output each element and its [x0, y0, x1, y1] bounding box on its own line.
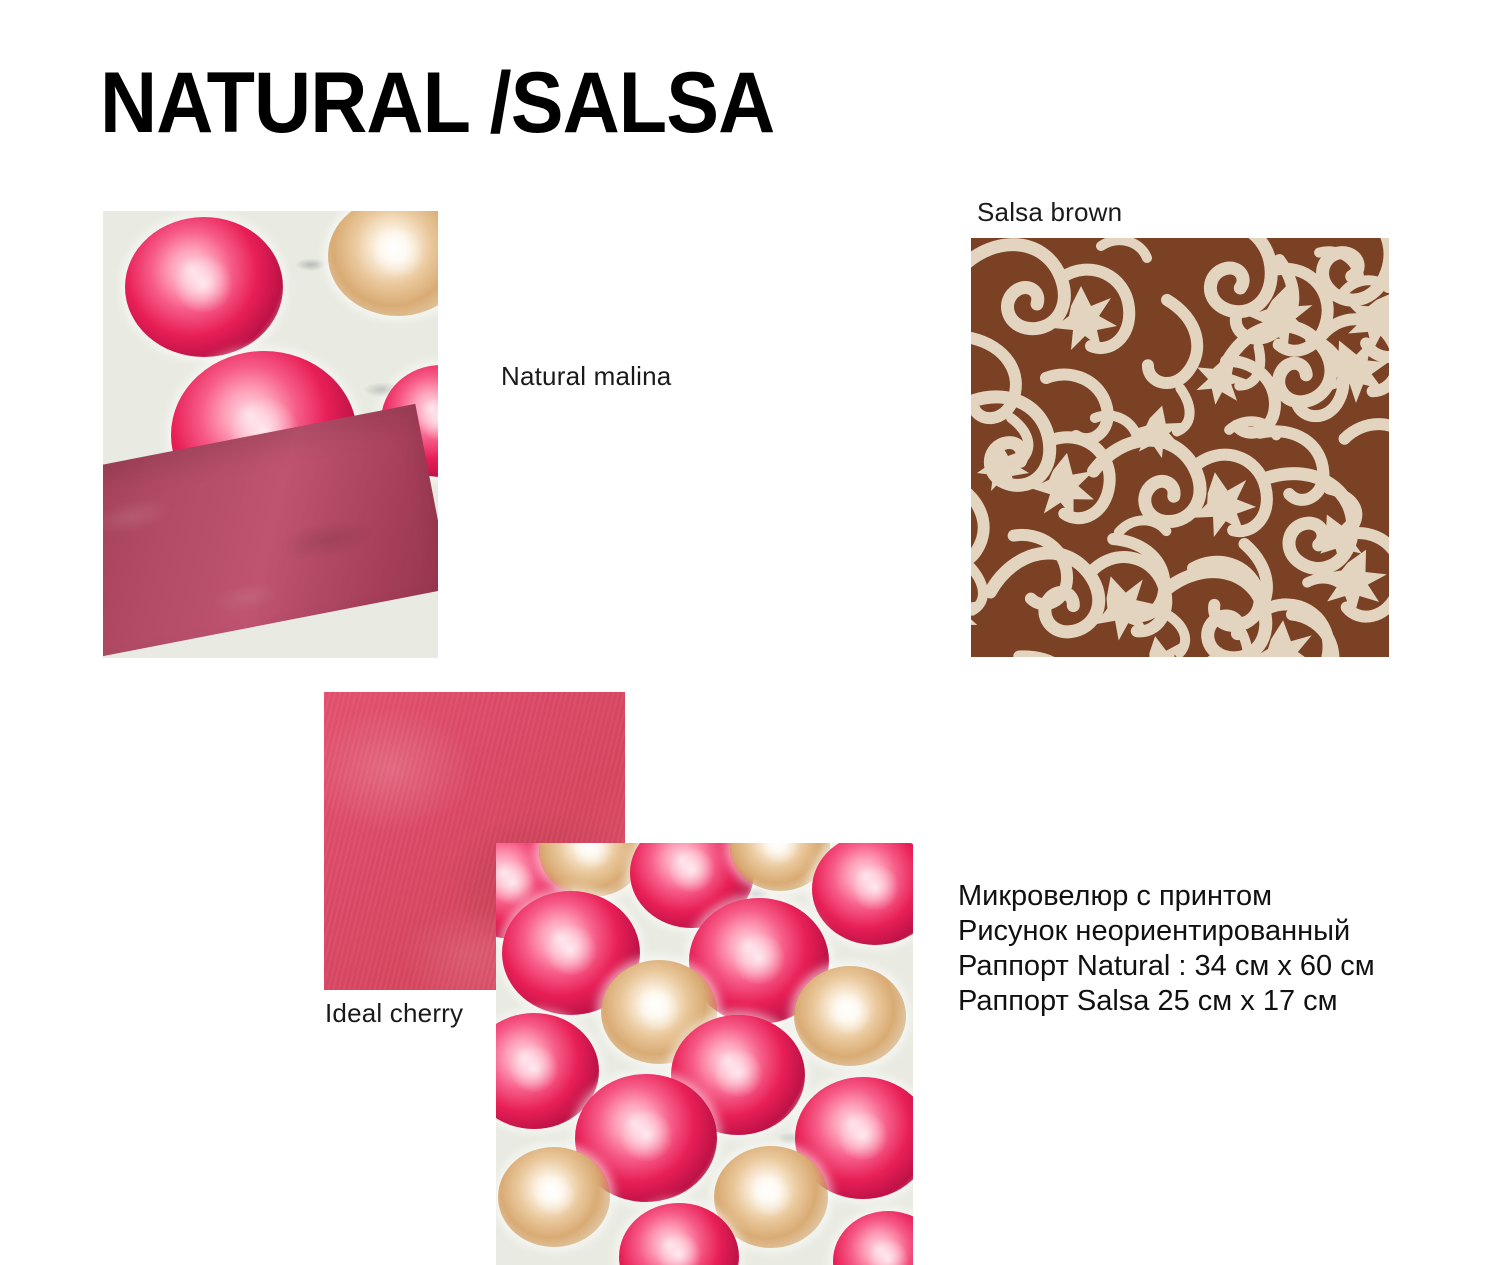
tan-bloom — [328, 211, 438, 316]
rose-bloom — [833, 1211, 913, 1265]
rose-bloom — [812, 843, 913, 945]
velour-fold — [103, 404, 438, 658]
swatch-label-salsa-brown: Salsa brown — [977, 197, 1122, 228]
spec-line-material: Микровелюр с принтом — [958, 879, 1375, 914]
damask-scroll-pattern — [971, 238, 1389, 657]
spec-line-repeat-salsa: Раппорт Salsa 25 см х 17 см — [958, 984, 1375, 1019]
fabric-swatch-natural-malina — [496, 843, 913, 1265]
fabric-swatch-salsa-brown — [971, 238, 1389, 657]
swatch-label-natural-malina: Natural malina — [501, 361, 671, 392]
specification-text: Микровелюр с принтом Рисунок неориентиро… — [958, 879, 1375, 1019]
rose-bloom — [125, 217, 283, 357]
tan-bloom — [794, 966, 906, 1066]
page-title: NATURAL /SALSA — [100, 58, 774, 148]
swatch-label-ideal-cherry: Ideal cherry — [325, 998, 463, 1029]
spec-line-pattern-type: Рисунок неориентированный — [958, 914, 1375, 949]
spec-line-repeat-natural: Раппорт Natural : 34 см х 60 см — [958, 949, 1375, 984]
fabric-swatch-natural-print — [103, 211, 438, 658]
slide-canvas: NATURAL /SALSA — [0, 0, 1500, 1124]
tan-bloom — [498, 1147, 610, 1247]
